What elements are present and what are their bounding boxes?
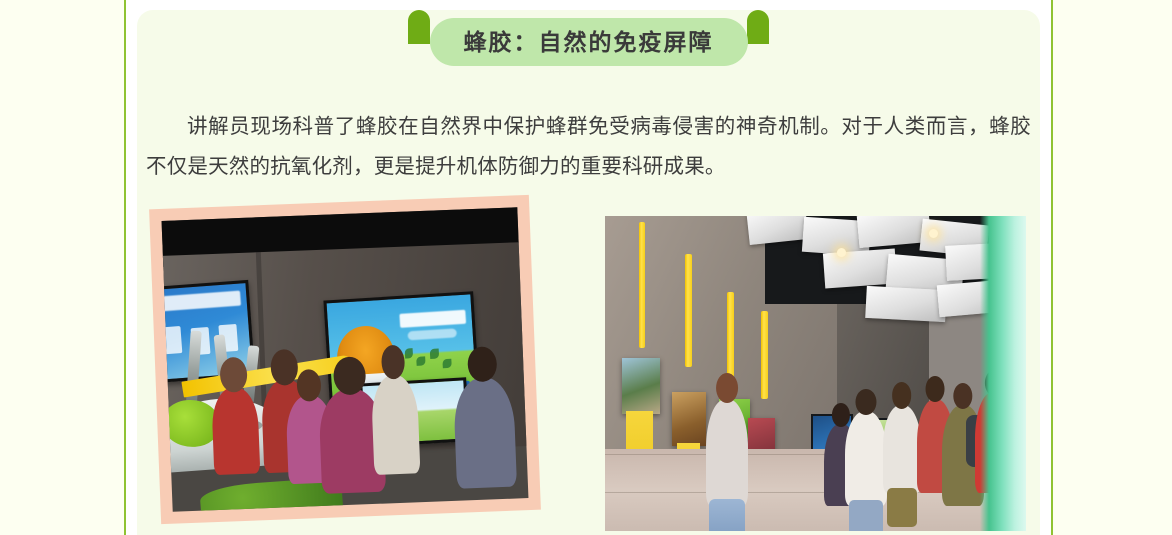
rp-spotlight-2 <box>929 229 938 238</box>
title-row: 蜂胶：自然的免疫屏障 <box>137 10 1040 82</box>
photo-row <box>137 186 1040 535</box>
rp-visitor-1-head <box>832 403 850 428</box>
rp-visitor-3 <box>883 405 921 493</box>
lp-visitor-4-head <box>332 356 365 395</box>
right-divider-rule <box>1051 0 1053 535</box>
exhibition-hall-screens-photo <box>162 207 529 511</box>
rp-spotlight-1 <box>837 248 846 257</box>
lp-leaf-icon-3 <box>430 349 439 359</box>
exhibition-hall-columns-photo <box>605 216 1026 531</box>
rp-light-column-4 <box>761 311 768 399</box>
rp-guide <box>706 399 748 506</box>
rp-guide-jeans <box>709 499 744 531</box>
rp-guide-head <box>716 373 738 403</box>
lp-leaf-icon-4 <box>442 359 451 369</box>
rp-ceiling-panel-8 <box>865 286 947 322</box>
rp-visitor-5-head <box>953 383 972 409</box>
rp-visitor-3-head <box>892 382 912 408</box>
rp-visitor-2 <box>845 411 887 506</box>
lp-leaf-icon-2 <box>416 356 425 366</box>
right-gutter <box>1052 0 1172 535</box>
lp-display-left-card-1 <box>162 326 183 354</box>
lp-leaf-icon-1 <box>404 349 413 359</box>
lp-display-left-title <box>162 291 241 311</box>
body-paragraph: 讲解员现场科普了蜂胶在自然界中保护蜂群免受病毒侵害的神奇机制。对于人类而言，蜂胶… <box>146 107 1031 187</box>
rp-light-column-1 <box>639 222 646 348</box>
content-card: 蜂胶：自然的免疫屏障 讲解员现场科普了蜂胶在自然界中保护蜂群免受病毒侵害的神奇机… <box>137 10 1040 535</box>
lp-display-main-subline <box>408 329 457 340</box>
right-photo-container <box>605 216 1026 531</box>
left-photo-container <box>149 195 541 524</box>
lp-display-main-headline <box>399 310 466 329</box>
rp-visitor-2-jeans <box>849 500 883 531</box>
rp-poster-1 <box>622 358 660 415</box>
left-photo-frame <box>149 195 541 524</box>
title-tab-right-icon <box>747 10 769 44</box>
left-divider-rule <box>124 0 126 535</box>
rp-light-column-2 <box>685 254 692 367</box>
rp-poster-2 <box>672 392 706 446</box>
rp-visitor-4-head <box>926 376 945 402</box>
page-root: 蜂胶：自然的免疫屏障 讲解员现场科普了蜂胶在自然界中保护蜂群免受病毒侵害的神奇机… <box>0 0 1172 535</box>
rp-light-column-3 <box>727 292 734 387</box>
left-gutter <box>0 0 125 535</box>
lp-visitor-3-head <box>296 369 321 401</box>
rp-visitor-3-pants <box>887 488 917 527</box>
rp-green-pillar <box>980 216 1026 531</box>
section-title-badge: 蜂胶：自然的免疫屏障 <box>430 18 748 66</box>
page-title: 蜂胶：自然的免疫屏障 <box>464 31 714 54</box>
title-tab-left-icon <box>408 10 430 44</box>
